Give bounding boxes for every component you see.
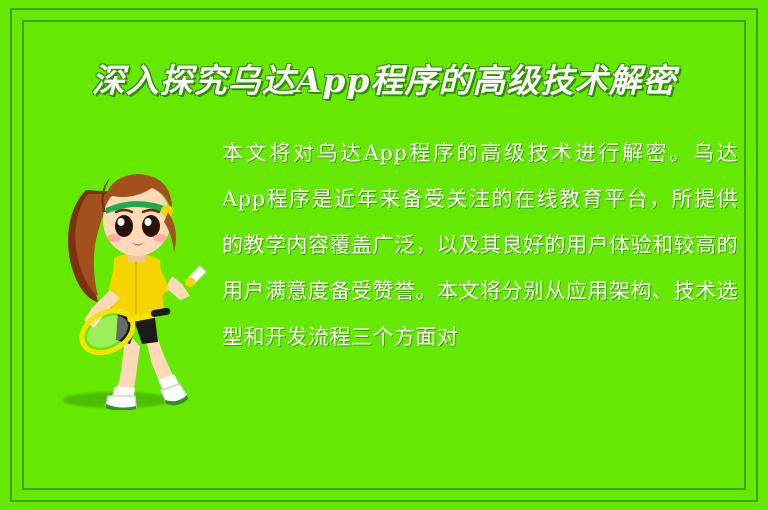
poster-canvas: 深入探究乌达App程序的高级技术解密 <box>0 0 768 510</box>
page-title: 深入探究乌达App程序的高级技术解密 <box>0 54 768 102</box>
article-body: 本文将对乌达App程序的高级技术进行解密。乌达App程序是近年来备受关注的在线教… <box>222 130 738 360</box>
badminton-girl-character <box>48 150 218 410</box>
